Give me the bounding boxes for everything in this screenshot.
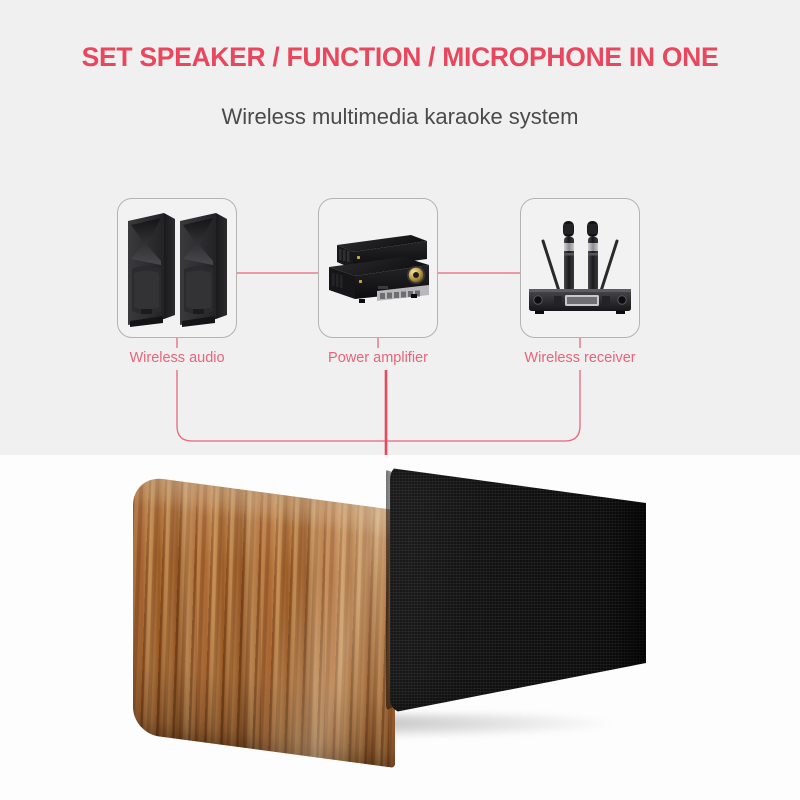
- component-label-wireless-receiver: Wireless receiver: [470, 350, 690, 366]
- speaker-wood-highlight: [133, 475, 395, 768]
- component-box-wireless-audio[interactable]: [117, 198, 237, 338]
- branch-audio-to-bus: [177, 370, 386, 441]
- speaker-fabric-grille: [390, 463, 646, 713]
- infographic-page: SET SPEAKER / FUNCTION / MICROPHONE IN O…: [0, 0, 800, 800]
- component-box-wireless-receiver[interactable]: [520, 198, 640, 338]
- component-label-wireless-audio: Wireless audio: [67, 350, 287, 366]
- component-label-power-amplifier: Power amplifier: [268, 350, 488, 366]
- branch-receiver-to-bus: [386, 370, 580, 441]
- page-title: SET SPEAKER / FUNCTION / MICROPHONE IN O…: [0, 42, 800, 73]
- rack-amplifier-icon: [319, 199, 437, 337]
- microphone-receiver-icon: [521, 199, 639, 337]
- page-subtitle: Wireless multimedia karaoke system: [0, 104, 800, 130]
- pa-speaker-pair-icon: [118, 199, 236, 337]
- product-photo: [0, 455, 800, 800]
- component-box-power-amplifier[interactable]: [318, 198, 438, 338]
